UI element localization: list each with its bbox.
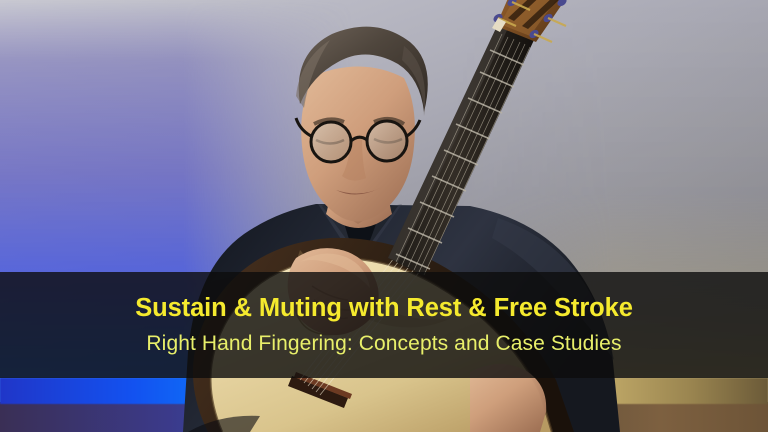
video-subtitle: Right Hand Fingering: Concepts and Case … bbox=[146, 332, 621, 355]
title-overlay-band: Sustain & Muting with Rest & Free Stroke… bbox=[0, 272, 768, 378]
video-thumbnail: Sustain & Muting with Rest & Free Stroke… bbox=[0, 0, 768, 432]
video-title: Sustain & Muting with Rest & Free Stroke bbox=[135, 295, 633, 322]
